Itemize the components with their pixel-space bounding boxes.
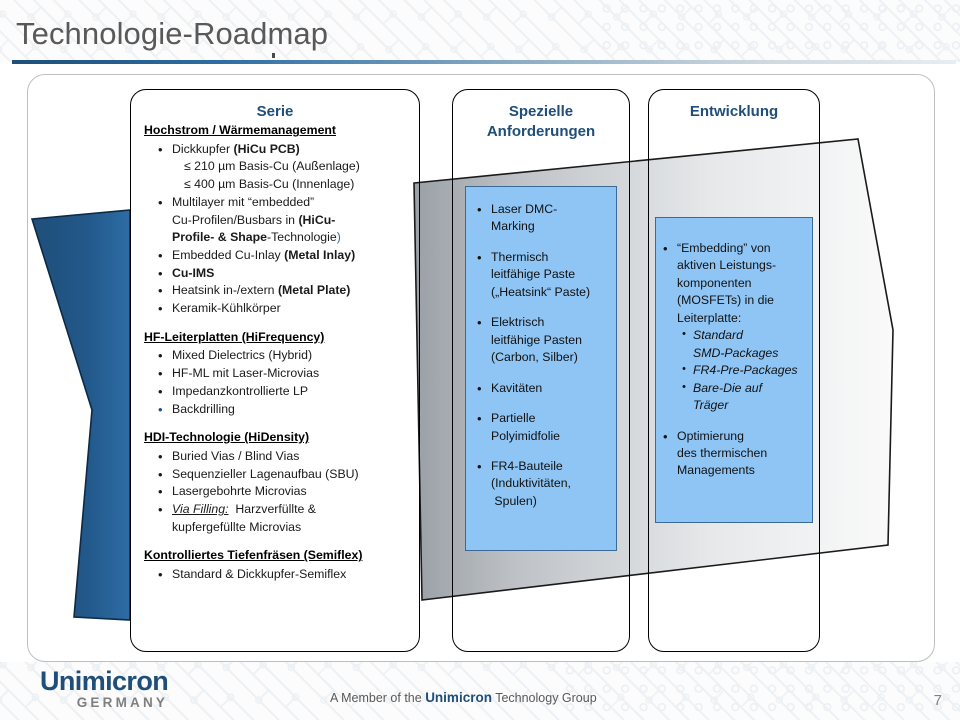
entwicklung-blue-panel: •“Embedding” vonaktiven Leistungs-kompon… — [655, 217, 813, 523]
logo-country-label: GERMANY — [40, 696, 168, 710]
bullet-dot-icon: • — [158, 383, 163, 402]
bullet-dot-icon: • — [663, 240, 668, 258]
list-item-text: Cu-IMS — [172, 266, 214, 280]
bullet-dot-icon: • — [158, 247, 163, 266]
bullet-dot-icon: • — [158, 141, 163, 160]
logo-wordmark: Unimicron — [40, 668, 168, 695]
bullet-dot-icon: • — [158, 501, 163, 520]
column-heading-entwicklung: Entwicklung — [649, 102, 819, 122]
page-title: Technologie-Roadmap — [16, 16, 328, 52]
bullet-dot-icon: • — [158, 466, 163, 485]
entwicklung-item: •Optimierungdes thermischenManagements — [662, 428, 806, 480]
bullet-dot-icon: • — [158, 194, 163, 213]
bullet-dot-icon: • — [158, 483, 163, 502]
entwicklung-item-text: Optimierungdes thermischenManagements — [677, 429, 767, 478]
list-item: •Via Filling: Harzverfüllte &kupfergefül… — [156, 501, 410, 536]
column-heading-spezielle: Spezielle Anforderungen — [453, 102, 629, 143]
list-item-text: Via Filling: Harzverfüllte &kupfergefüll… — [172, 502, 410, 536]
spezielle-item-text: FR4-Bauteile(Induktivitäten, Spulen) — [491, 459, 571, 508]
list-item-text: Lasergebohrte Microvias — [172, 484, 307, 498]
page-number: 7 — [934, 692, 942, 709]
entwicklung-subitem: •StandardSMD-Packages — [681, 327, 806, 362]
serie-group-title: HF-Leiterplatten (HiFrequency) — [144, 329, 410, 347]
serie-content-list: Hochstrom / Wärmemanagement•Dickkupfer (… — [144, 122, 410, 584]
list-item-text: Sequenzieller Lagenaufbau (SBU) — [172, 467, 359, 481]
list-item: •Impedanzkontrollierte LP — [156, 383, 410, 401]
list-item: •Keramik-Kühlkörper — [156, 300, 410, 318]
serie-group-items: •Mixed Dielectrics (Hybrid)•HF-ML mit La… — [144, 347, 410, 418]
bullet-dot-icon: • — [477, 314, 482, 332]
list-item-text: HF-ML mit Laser-Microvias — [172, 366, 319, 380]
title-tick-mark — [272, 53, 275, 58]
list-item: •HF-ML mit Laser-Microvias — [156, 365, 410, 383]
list-item: •Mixed Dielectrics (Hybrid) — [156, 347, 410, 365]
bullet-dot-icon: • — [477, 410, 482, 428]
entwicklung-bullet-list: •“Embedding” vonaktiven Leistungs-kompon… — [662, 240, 806, 480]
entwicklung-subitems: •StandardSMD-Packages•FR4-Pre-Packages•B… — [681, 327, 806, 414]
bullet-dot-icon: • — [158, 365, 163, 384]
bullet-dot-icon: • — [682, 380, 686, 396]
column-heading-serie: Serie — [131, 102, 419, 122]
entwicklung-subitem-text: StandardSMD-Packages — [693, 328, 778, 359]
bullet-dot-icon: • — [158, 282, 163, 301]
bullet-dot-icon: • — [158, 448, 163, 467]
entwicklung-subitem-text: FR4-Pre-Packages — [693, 363, 798, 377]
column-heading-spezielle-line1: Spezielle — [453, 102, 629, 122]
list-item-text: Embedded Cu-Inlay (Metal Inlay) — [172, 248, 355, 262]
bullet-dot-icon: • — [682, 362, 686, 378]
spezielle-item: •Thermischleitfähige Paste(„Heatsink“ Pa… — [476, 249, 608, 301]
list-item: •Heatsink in-/extern (Metal Plate) — [156, 282, 410, 300]
member-prefix: A Member of the — [330, 691, 425, 705]
serie-group-items: •Dickkupfer (HiCu PCB)≤ 210 µm Basis-Cu … — [144, 141, 410, 318]
entwicklung-subitem: •Bare-Die aufTräger — [681, 380, 806, 415]
spezielle-item: •Kavitäten — [476, 380, 608, 397]
bullet-dot-icon: • — [663, 428, 668, 446]
list-item-text: Heatsink in-/extern (Metal Plate) — [172, 283, 350, 297]
bullet-dot-icon: • — [158, 566, 163, 585]
serie-group: Hochstrom / Wärmemanagement•Dickkupfer (… — [144, 122, 410, 318]
serie-group-title: Hochstrom / Wärmemanagement — [144, 122, 410, 140]
spezielle-blue-panel: •Laser DMC-Marking•Thermischleitfähige P… — [465, 186, 617, 551]
member-brand: Unimicron — [425, 690, 492, 705]
list-item: •Multilayer mit “embedded”Cu-Profilen/Bu… — [156, 194, 410, 247]
spezielle-item-text: Laser DMC-Marking — [491, 202, 557, 233]
list-item-text: Standard & Dickkupfer-Semiflex — [172, 567, 346, 581]
serie-group: Kontrolliertes Tiefenfräsen (Semiflex)•S… — [144, 547, 410, 583]
spezielle-bullet-list: •Laser DMC-Marking•Thermischleitfähige P… — [476, 201, 608, 510]
entwicklung-subitem-text: Bare-Die aufTräger — [693, 381, 762, 412]
list-item-text: Multilayer mit “embedded”Cu-Profilen/Bus… — [172, 195, 410, 247]
list-item: •Lasergebohrte Microvias — [156, 483, 410, 501]
list-item: •Buried Vias / Blind Vias — [156, 448, 410, 466]
entwicklung-item-text: “Embedding” vonaktiven Leistungs-kompone… — [677, 241, 776, 325]
serie-group-title: Kontrolliertes Tiefenfräsen (Semiflex) — [144, 547, 410, 565]
list-item-text: Buried Vias / Blind Vias — [172, 449, 299, 463]
serie-group-title: HDI-Technologie (HiDensity) — [144, 429, 410, 447]
spezielle-item: •FR4-Bauteile(Induktivitäten, Spulen) — [476, 458, 608, 510]
spezielle-item: •Elektrischleitfähige Pasten(Carbon, Sil… — [476, 314, 608, 366]
entwicklung-item: •“Embedding” vonaktiven Leistungs-kompon… — [662, 240, 806, 415]
list-item-text: Dickkupfer (HiCu PCB)≤ 210 µm Basis-Cu (… — [172, 142, 410, 194]
list-item-text: Keramik-Kühlkörper — [172, 301, 281, 315]
list-item: •Cu-IMS — [156, 265, 410, 283]
list-item: •Dickkupfer (HiCu PCB)≤ 210 µm Basis-Cu … — [156, 141, 410, 194]
column-heading-spezielle-line2: Anforderungen — [453, 122, 629, 142]
bullet-dot-icon: • — [158, 265, 163, 284]
bullet-dot-icon: • — [158, 401, 163, 420]
list-item-text: Mixed Dielectrics (Hybrid) — [172, 348, 312, 362]
spezielle-item-text: Kavitäten — [491, 381, 542, 395]
list-item-text: Impedanzkontrollierte LP — [172, 384, 308, 398]
entwicklung-subitem: •FR4-Pre-Packages — [681, 362, 806, 379]
list-item-text: Backdrilling — [172, 402, 235, 416]
list-item: •Sequenzieller Lagenaufbau (SBU) — [156, 466, 410, 484]
spezielle-item: •Laser DMC-Marking — [476, 201, 608, 236]
serie-group-items: •Standard & Dickkupfer-Semiflex — [144, 566, 410, 584]
member-of-group-line: A Member of the Unimicron Technology Gro… — [330, 690, 597, 705]
member-suffix: Technology Group — [492, 691, 597, 705]
bullet-dot-icon: • — [682, 327, 686, 343]
spezielle-item-text: Thermischleitfähige Paste(„Heatsink“ Pas… — [491, 250, 590, 299]
bullet-dot-icon: • — [477, 201, 482, 219]
serie-group: HF-Leiterplatten (HiFrequency)•Mixed Die… — [144, 329, 410, 419]
unimicron-logo: Unimicron GERMANY — [40, 668, 168, 710]
bullet-dot-icon: • — [477, 458, 482, 476]
spezielle-item: •PartiellePolyimidfolie — [476, 410, 608, 445]
list-item: •Backdrilling — [156, 401, 410, 419]
list-item: •Embedded Cu-Inlay (Metal Inlay) — [156, 247, 410, 265]
serie-group-items: •Buried Vias / Blind Vias•Sequenzieller … — [144, 448, 410, 537]
title-underline-rule — [12, 60, 956, 64]
serie-group: HDI-Technologie (HiDensity)•Buried Vias … — [144, 429, 410, 536]
spezielle-item-text: Elektrischleitfähige Pasten(Carbon, Silb… — [491, 315, 582, 364]
bullet-dot-icon: • — [158, 347, 163, 366]
list-item: •Standard & Dickkupfer-Semiflex — [156, 566, 410, 584]
bullet-dot-icon: • — [158, 300, 163, 319]
spezielle-item-text: PartiellePolyimidfolie — [491, 411, 560, 442]
bullet-dot-icon: • — [477, 249, 482, 267]
bullet-dot-icon: • — [477, 380, 482, 398]
